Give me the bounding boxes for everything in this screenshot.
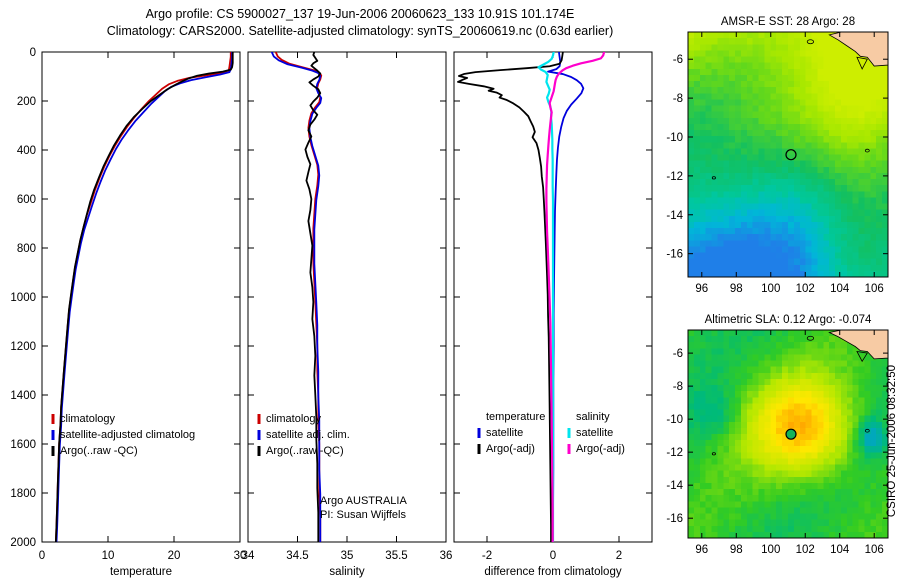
heatmap-cell <box>835 410 841 417</box>
heatmap-cell <box>770 142 776 149</box>
heatmap-cell <box>788 354 794 361</box>
heatmap-cell <box>800 385 806 392</box>
heatmap-cell <box>829 57 835 64</box>
heatmap-cell <box>770 483 776 490</box>
heatmap-cell <box>776 440 782 447</box>
heatmap-cell <box>864 99 870 106</box>
heatmap-cell <box>788 465 794 472</box>
heatmap-cell <box>835 50 841 57</box>
legend-label: Argo(..raw -QC) <box>60 445 138 457</box>
heatmap-cell <box>817 403 823 410</box>
heatmap-cell <box>870 148 876 155</box>
heatmap-cell <box>835 379 841 386</box>
heatmap-cell <box>753 234 759 241</box>
heatmap-cell <box>817 391 823 398</box>
heatmap-cell <box>741 342 747 349</box>
heatmap-cell <box>759 336 765 343</box>
heatmap-cell <box>753 253 759 260</box>
heatmap-cell <box>788 336 794 343</box>
heatmap-cell <box>847 57 853 64</box>
heatmap-cell <box>870 265 876 272</box>
heatmap-cell <box>735 465 741 472</box>
heatmap-cell <box>794 483 800 490</box>
heatmap-cell <box>823 93 829 100</box>
heatmap-cell <box>864 63 870 70</box>
heatmap-cell <box>764 69 770 76</box>
heatmap-cell <box>694 130 700 137</box>
heatmap-cell <box>729 342 735 349</box>
heatmap-cell <box>706 118 712 125</box>
heatmap-cell <box>782 489 788 496</box>
heatmap-cell <box>700 330 706 337</box>
heatmap-cell <box>723 44 729 51</box>
heatmap-cell <box>747 520 753 527</box>
heatmap-cell <box>706 124 712 131</box>
heatmap-cell <box>782 210 788 217</box>
heatmap-cell <box>794 526 800 533</box>
heatmap-cell <box>841 210 847 217</box>
heatmap-cell <box>864 514 870 521</box>
heatmap-cell <box>712 342 718 349</box>
legend-label: satellite adj. clim. <box>266 429 350 441</box>
heatmap-cell <box>870 234 876 241</box>
heatmap-cell <box>853 75 859 82</box>
heatmap-cell <box>876 246 882 253</box>
heatmap-cell <box>829 434 835 441</box>
heatmap-cell <box>835 501 841 508</box>
heatmap-cell <box>741 410 747 417</box>
heatmap-cell <box>847 63 853 70</box>
heatmap-cell <box>870 216 876 223</box>
heatmap-cell <box>829 155 835 162</box>
heatmap-cell <box>794 63 800 70</box>
heatmap-cell <box>729 440 735 447</box>
heatmap-cell <box>706 222 712 229</box>
heatmap-cell <box>806 507 812 514</box>
heatmap-cell <box>764 403 770 410</box>
heatmap-cell <box>817 501 823 508</box>
heatmap-cell <box>847 446 853 453</box>
heatmap-cell <box>723 50 729 57</box>
heatmap-cell <box>870 526 876 533</box>
heatmap-cell <box>753 167 759 174</box>
series-line <box>56 52 231 542</box>
heatmap-cell <box>847 422 853 429</box>
heatmap-cell <box>753 458 759 465</box>
heatmap-cell <box>853 397 859 404</box>
heatmap-cell <box>788 416 794 423</box>
heatmap-cell <box>776 185 782 192</box>
heatmap-cell <box>717 81 723 88</box>
heatmap-cell <box>876 440 882 447</box>
heatmap-cell <box>829 185 835 192</box>
heatmap-cell <box>853 222 859 229</box>
heatmap-cell <box>735 501 741 508</box>
heatmap-cell <box>759 118 765 125</box>
heatmap-cell <box>741 501 747 508</box>
heatmap-cell <box>712 259 718 266</box>
heatmap-cell <box>700 130 706 137</box>
heatmap-cell <box>847 185 853 192</box>
heatmap-cell <box>788 173 794 180</box>
heatmap-cell <box>864 216 870 223</box>
heatmap-cell <box>853 410 859 417</box>
heatmap-cell <box>853 197 859 204</box>
heatmap-cell <box>817 32 823 39</box>
heatmap-cell <box>864 397 870 404</box>
heatmap-cell <box>735 348 741 355</box>
heatmap-cell <box>770 336 776 343</box>
heatmap-cell <box>776 75 782 82</box>
heatmap-cell <box>812 81 818 88</box>
heatmap-cell <box>782 118 788 125</box>
heatmap-cell <box>853 130 859 137</box>
heatmap-cell <box>800 38 806 45</box>
heatmap-cell <box>741 507 747 514</box>
map-y-tick-label: -6 <box>673 54 683 66</box>
heatmap-cell <box>759 38 765 45</box>
heatmap-cell <box>747 155 753 162</box>
heatmap-cell <box>717 483 723 490</box>
heatmap-cell <box>853 148 859 155</box>
heatmap-cell <box>870 403 876 410</box>
heatmap-cell <box>870 191 876 198</box>
heatmap-cell <box>864 434 870 441</box>
heatmap-cell <box>794 495 800 502</box>
heatmap-cell <box>806 385 812 392</box>
heatmap-cell <box>759 173 765 180</box>
heatmap-cell <box>759 489 765 496</box>
heatmap-cell <box>806 458 812 465</box>
heatmap-cell <box>717 161 723 168</box>
heatmap-cell <box>694 228 700 235</box>
heatmap-cell <box>717 118 723 125</box>
legend-group-title: salinity <box>576 411 610 423</box>
heatmap-cell <box>806 253 812 260</box>
heatmap-cell <box>788 75 794 82</box>
heatmap-cell <box>723 148 729 155</box>
y-tick-label: 1000 <box>10 292 36 304</box>
heatmap-cell <box>694 112 700 119</box>
heatmap-cell <box>823 501 829 508</box>
heatmap-cell <box>694 361 700 368</box>
heatmap-cell <box>770 354 776 361</box>
heatmap-cell <box>876 489 882 496</box>
heatmap-cell <box>806 348 812 355</box>
heatmap-cell <box>829 403 835 410</box>
heatmap-cell <box>823 507 829 514</box>
heatmap-cell <box>764 428 770 435</box>
heatmap-cell <box>700 142 706 149</box>
heatmap-cell <box>729 124 735 131</box>
heatmap-cell <box>688 57 694 64</box>
heatmap-cell <box>700 124 706 131</box>
heatmap-cell <box>717 185 723 192</box>
heatmap-cell <box>788 69 794 76</box>
heatmap-cell <box>806 428 812 435</box>
heatmap-cell <box>829 112 835 119</box>
heatmap-cell <box>700 361 706 368</box>
heatmap-cell <box>735 440 741 447</box>
amsre-sst-map: AMSR-E SST: 28 Argo: 289698100102104106-… <box>666 16 888 295</box>
heatmap-cell <box>747 234 753 241</box>
heatmap-cell <box>776 93 782 100</box>
heatmap-cell <box>812 142 818 149</box>
heatmap-cell <box>812 155 818 162</box>
series-line <box>458 52 563 542</box>
y-tick-label: 1400 <box>10 390 36 402</box>
heatmap-cell <box>864 240 870 247</box>
heatmap-cell <box>706 50 712 57</box>
heatmap-cell <box>753 240 759 247</box>
heatmap-cell <box>706 495 712 502</box>
heatmap-cell <box>764 246 770 253</box>
heatmap-cell <box>759 416 765 423</box>
heatmap-cell <box>759 32 765 39</box>
heatmap-cell <box>753 93 759 100</box>
heatmap-cell <box>723 167 729 174</box>
heatmap-cell <box>853 489 859 496</box>
heatmap-cell <box>876 391 882 398</box>
heatmap-cell <box>753 526 759 533</box>
heatmap-cell <box>788 330 794 337</box>
heatmap-cell <box>776 210 782 217</box>
heatmap-cell <box>806 477 812 484</box>
heatmap-cell <box>712 38 718 45</box>
heatmap-cell <box>764 253 770 260</box>
heatmap-cell <box>788 32 794 39</box>
heatmap-cell <box>776 69 782 76</box>
heatmap-cell <box>770 403 776 410</box>
heatmap-cell <box>717 191 723 198</box>
heatmap-cell <box>812 259 818 266</box>
heatmap-cell <box>794 379 800 386</box>
heatmap-cell <box>817 526 823 533</box>
heatmap-cell <box>847 526 853 533</box>
heatmap-cell <box>747 465 753 472</box>
heatmap-cell <box>717 197 723 204</box>
heatmap-cell <box>747 385 753 392</box>
heatmap-cell <box>870 385 876 392</box>
heatmap-cell <box>735 210 741 217</box>
heatmap-cell <box>700 32 706 39</box>
x-tick-label: 36 <box>440 550 453 562</box>
heatmap-cell <box>764 99 770 106</box>
heatmap-cell <box>776 136 782 143</box>
heatmap-cell <box>823 234 829 241</box>
heatmap-cell <box>859 124 865 131</box>
heatmap-cell <box>870 471 876 478</box>
heatmap-cell <box>812 385 818 392</box>
heatmap-cell <box>859 483 865 490</box>
heatmap-cell <box>859 106 865 113</box>
heatmap-cell <box>723 136 729 143</box>
heatmap-cell <box>853 99 859 106</box>
heatmap-cell <box>864 246 870 253</box>
heatmap-cell <box>812 342 818 349</box>
heatmap-cell <box>700 204 706 211</box>
heatmap-cell <box>764 265 770 272</box>
heatmap-cell <box>735 161 741 168</box>
heatmap-cell <box>694 514 700 521</box>
heatmap-cell <box>800 222 806 229</box>
heatmap-cell <box>817 44 823 51</box>
heatmap-cell <box>776 253 782 260</box>
heatmap-cell <box>841 265 847 272</box>
heatmap-cell <box>835 240 841 247</box>
heatmap-cell <box>764 507 770 514</box>
heatmap-cell <box>800 446 806 453</box>
heatmap-cell <box>712 391 718 398</box>
heatmap-cell <box>800 234 806 241</box>
heatmap-cell <box>729 87 735 94</box>
heatmap-cell <box>759 410 765 417</box>
heatmap-cell <box>794 246 800 253</box>
heatmap-cell <box>782 440 788 447</box>
heatmap-cell <box>741 520 747 527</box>
heatmap-cell <box>747 265 753 272</box>
heatmap-cell <box>812 354 818 361</box>
heatmap-cell <box>776 489 782 496</box>
heatmap-cell <box>717 173 723 180</box>
heatmap-cell <box>712 228 718 235</box>
heatmap-cell <box>829 44 835 51</box>
heatmap-cell <box>700 452 706 459</box>
heatmap-cell <box>729 197 735 204</box>
heatmap-cell <box>770 136 776 143</box>
heatmap-cell <box>859 391 865 398</box>
heatmap-cell <box>800 204 806 211</box>
heatmap-cell <box>700 167 706 174</box>
heatmap-cell <box>741 69 747 76</box>
heatmap-cell <box>764 63 770 70</box>
heatmap-cell <box>870 81 876 88</box>
heatmap-cell <box>759 44 765 51</box>
heatmap-cell <box>859 93 865 100</box>
heatmap-cell <box>706 526 712 533</box>
heatmap-cell <box>770 81 776 88</box>
heatmap-cell <box>764 422 770 429</box>
heatmap-cell <box>706 259 712 266</box>
heatmap-cell <box>823 483 829 490</box>
heatmap-cell <box>700 434 706 441</box>
heatmap-cell <box>770 155 776 162</box>
heatmap-cell <box>747 379 753 386</box>
heatmap-cell <box>753 32 759 39</box>
heatmap-cell <box>688 354 694 361</box>
heatmap-cell <box>806 161 812 168</box>
heatmap-cell <box>717 446 723 453</box>
heatmap-cell <box>841 106 847 113</box>
heatmap-cell <box>870 179 876 186</box>
heatmap-cell <box>782 330 788 337</box>
heatmap-cell <box>812 75 818 82</box>
heatmap-cell <box>776 148 782 155</box>
heatmap-cell <box>823 106 829 113</box>
heatmap-cell <box>829 483 835 490</box>
heatmap-cell <box>753 483 759 490</box>
heatmap-cell <box>841 216 847 223</box>
heatmap-cell <box>823 99 829 106</box>
heatmap-cell <box>741 191 747 198</box>
heatmap-cell <box>764 495 770 502</box>
map-y-tick-label: -16 <box>666 513 683 525</box>
heatmap-cell <box>853 216 859 223</box>
heatmap-cell <box>794 397 800 404</box>
heatmap-cell <box>870 69 876 76</box>
heatmap-cell <box>700 391 706 398</box>
heatmap-cell <box>823 161 829 168</box>
heatmap-cell <box>764 259 770 266</box>
heatmap-cell <box>800 342 806 349</box>
heatmap-cell <box>700 99 706 106</box>
heatmap-cell <box>841 179 847 186</box>
argo-profile-marker[interactable] <box>786 429 796 439</box>
heatmap-cell <box>829 259 835 266</box>
heatmap-cell <box>788 50 794 57</box>
heatmap-cell <box>817 63 823 70</box>
heatmap-cell <box>700 501 706 508</box>
heatmap-cell <box>817 124 823 131</box>
heatmap-cell <box>782 197 788 204</box>
heatmap-cell <box>876 514 882 521</box>
heatmap-cell <box>712 428 718 435</box>
heatmap-cell <box>870 428 876 435</box>
heatmap-cell <box>829 93 835 100</box>
profile-plot-area: 0200400600800100012001400160018002000010… <box>0 40 670 580</box>
heatmap-cell <box>706 336 712 343</box>
heatmap-cell <box>717 44 723 51</box>
heatmap-cell <box>729 136 735 143</box>
heatmap-cell <box>864 483 870 490</box>
heatmap-cell <box>800 471 806 478</box>
heatmap-cell <box>694 520 700 527</box>
heatmap-cell <box>729 81 735 88</box>
heatmap-cell <box>770 452 776 459</box>
heatmap-cell <box>864 501 870 508</box>
heatmap-cell <box>835 385 841 392</box>
heatmap-cell <box>694 136 700 143</box>
heatmap-cell <box>717 93 723 100</box>
heatmap-cell <box>841 471 847 478</box>
heatmap-cell <box>717 124 723 131</box>
heatmap-cell <box>700 422 706 429</box>
heatmap-cell <box>753 434 759 441</box>
heatmap-cell <box>770 118 776 125</box>
heatmap-cell <box>753 367 759 374</box>
title-line-2: Climatology: CARS2000. Satellite-adjuste… <box>55 23 665 40</box>
heatmap-cell <box>859 118 865 125</box>
heatmap-cell <box>876 222 882 229</box>
heatmap-cell <box>800 87 806 94</box>
heatmap-cell <box>864 179 870 186</box>
heatmap-cell <box>776 507 782 514</box>
heatmap-cell <box>741 391 747 398</box>
heatmap-cell <box>776 234 782 241</box>
heatmap-cell <box>794 93 800 100</box>
heatmap-cell <box>753 69 759 76</box>
heatmap-cell <box>847 265 853 272</box>
heatmap-cell <box>735 336 741 343</box>
heatmap-cell <box>688 118 694 125</box>
heatmap-cell <box>835 75 841 82</box>
heatmap-cell <box>847 465 853 472</box>
y-tick-label: 0 <box>30 47 36 59</box>
heatmap-cell <box>782 136 788 143</box>
heatmap-cell <box>806 416 812 423</box>
heatmap-cell <box>694 161 700 168</box>
heatmap-cell <box>829 167 835 174</box>
